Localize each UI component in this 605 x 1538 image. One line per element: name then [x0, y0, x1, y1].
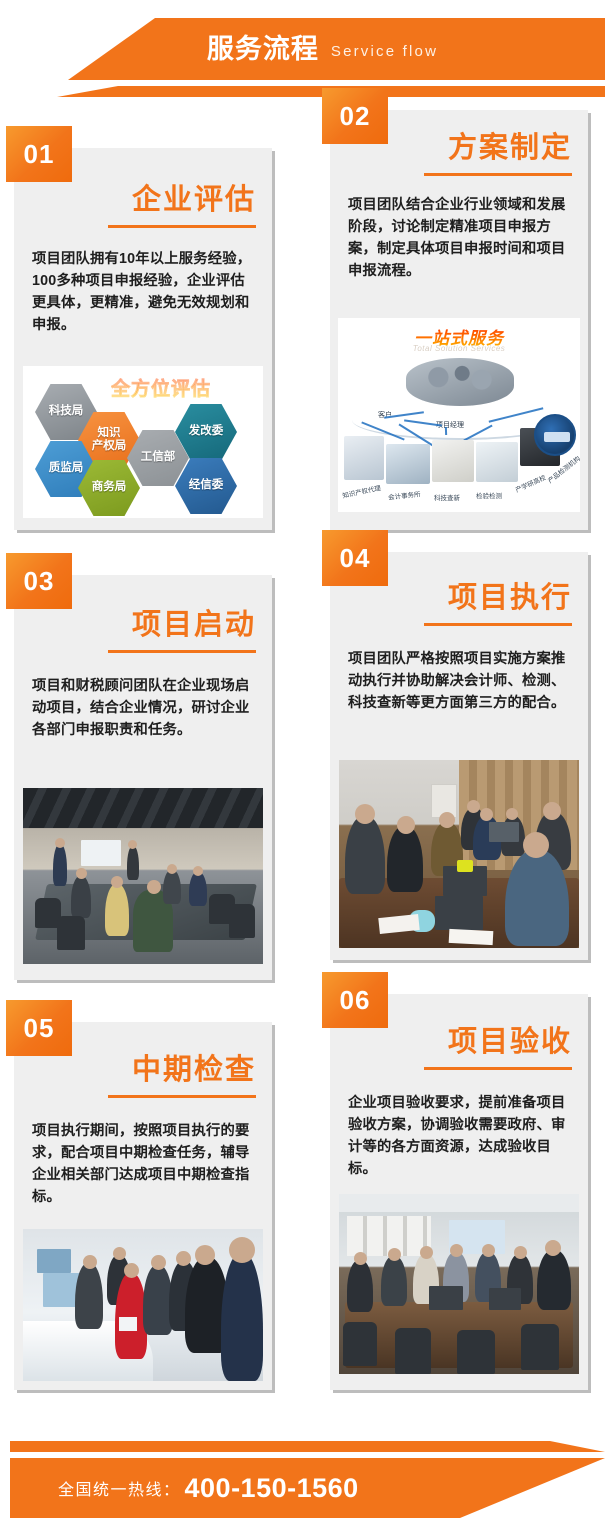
person-head — [193, 866, 203, 876]
card-body-text: 企业项目验收要求，提前准备项目验收方案，协调验收需要政府、审计等的各方面资源，达… — [348, 1092, 572, 1181]
person-head — [83, 1255, 97, 1269]
chair — [395, 1328, 431, 1374]
card-number-badge: 03 — [6, 553, 72, 609]
service-flow-poster: 服务流程 Service flow 01 企业评估 项目团队拥有10年以上服务经… — [0, 0, 605, 1538]
footer-accent-stripe — [10, 1441, 605, 1452]
person — [537, 1250, 571, 1310]
card-number-badge: 06 — [322, 972, 388, 1028]
photo-team-working-laptops — [339, 760, 579, 948]
person — [221, 1253, 263, 1381]
photo-boardroom-acceptance — [339, 1194, 579, 1374]
card-body-text: 项目团队严格按照项目实施方案推动执行并协助解决会计师、检测、科技查新等更方面第三… — [348, 648, 574, 714]
photo-scene — [339, 1194, 579, 1374]
photo-conference-room-meeting — [23, 788, 263, 964]
card-body-text: 项目执行期间，按照项目执行的要求，配合项目中期检查任务，辅导企业相关部门达成项目… — [32, 1120, 256, 1209]
display-screen — [37, 1249, 71, 1273]
hotline-number[interactable]: 400-150-1560 — [185, 1473, 359, 1504]
card-03[interactable]: 03 项目启动 项目和财税顾问团队在企业现场启动项目，结合企业情况，研讨企业各部… — [14, 575, 272, 980]
title-underline — [108, 1095, 256, 1098]
chair — [57, 916, 85, 950]
footer-content: 全国统一热线： 400-150-1560 — [10, 1458, 605, 1518]
person-head — [506, 808, 518, 820]
title-underline — [108, 650, 256, 653]
person-head — [482, 1244, 495, 1257]
person-head — [55, 838, 65, 848]
photo-scene — [23, 1229, 263, 1381]
chair — [521, 1324, 559, 1370]
person-head — [397, 816, 415, 834]
person — [53, 844, 67, 886]
title-underline — [424, 173, 572, 176]
person-head — [450, 1244, 463, 1257]
person-head — [195, 1245, 215, 1265]
card-title: 企业评估 — [14, 176, 272, 218]
person-head — [76, 868, 87, 879]
one-stop-photo-3 — [476, 442, 518, 482]
cards-grid: 01 企业评估 项目团队拥有10年以上服务经验，100多种项目申报经验，企业评估… — [0, 0, 605, 1538]
chair — [457, 1330, 495, 1374]
person-head — [355, 804, 375, 824]
person — [345, 816, 385, 894]
person-head — [545, 1240, 561, 1256]
page-footer: 全国统一热线： 400-150-1560 — [0, 1408, 605, 1538]
person-head — [147, 880, 161, 894]
card-body-text: 项目团队结合企业行业领域和发展阶段，讨论制定精准项目申报方案，制定具体项目申报时… — [348, 194, 572, 283]
photo-showroom-visit — [23, 1229, 263, 1381]
person — [381, 1256, 407, 1306]
person — [505, 850, 569, 946]
one-stop-photo-2 — [432, 440, 474, 482]
laptop — [435, 896, 483, 930]
person-head — [439, 812, 455, 828]
person-head — [523, 832, 549, 858]
person — [347, 1260, 373, 1312]
person-head — [167, 864, 177, 874]
person — [75, 1263, 103, 1329]
one-stop-photo-0 — [344, 436, 384, 480]
one-stop-center-photo — [406, 358, 514, 406]
one-stop-service-infographic: 一站式服务 Total Solution Services 客户 项目经理 — [338, 318, 580, 512]
one-stop-bottom-label-2: 科技查新 — [434, 492, 460, 502]
chair — [229, 904, 255, 938]
certification-seal-icon — [534, 414, 576, 456]
one-stop-bottom-label-0: 知识产权代理 — [341, 482, 381, 500]
person-head — [514, 1246, 527, 1259]
one-stop-bottom-label-1: 会计事务所 — [388, 488, 421, 501]
person-head — [543, 802, 561, 820]
person — [127, 846, 139, 880]
person-head — [354, 1252, 367, 1265]
card-body-text: 项目和财税顾问团队在企业现场启动项目，结合企业情况，研讨企业各部门申报职责和任务… — [32, 675, 256, 741]
person-head — [113, 1247, 126, 1260]
chair — [343, 1322, 377, 1366]
brochure — [119, 1317, 137, 1331]
person-head — [388, 1248, 401, 1261]
person-head — [176, 1251, 191, 1266]
card-number-badge: 02 — [322, 88, 388, 144]
one-stop-bottom-label-3: 检验检测 — [476, 490, 502, 500]
card-02[interactable]: 02 方案制定 项目团队结合企业行业领域和发展阶段，讨论制定精准项目申报方案，制… — [330, 110, 588, 530]
person — [163, 870, 181, 904]
person-head — [151, 1255, 166, 1270]
one-stop-photo-1 — [386, 444, 430, 484]
photo-scene — [339, 760, 579, 948]
person — [71, 876, 91, 918]
laptop — [489, 1288, 521, 1310]
one-stop-arrow — [445, 427, 447, 435]
sticky-note — [457, 860, 473, 872]
photo-scene — [23, 788, 263, 964]
card-number-badge: 01 — [6, 126, 72, 182]
hotline-label: 全国统一热线： — [58, 1476, 181, 1500]
one-stop-bottom-label-4: 产学研高校 — [513, 472, 547, 494]
hexagon-title: 全方位评估 — [111, 374, 211, 401]
person — [105, 884, 129, 936]
title-underline — [108, 225, 256, 228]
person-head — [229, 1237, 255, 1263]
person-head — [480, 808, 493, 821]
person-head — [111, 876, 123, 888]
whiteboard — [81, 840, 121, 866]
card-number-badge: 05 — [6, 1000, 72, 1056]
laptop — [429, 1286, 463, 1310]
one-stop-subtitle: Total Solution Services — [338, 344, 580, 353]
card-06[interactable]: 06 项目验收 企业项目验收要求，提前准备项目验收方案，协调验收需要政府、审计等… — [330, 994, 588, 1390]
paper — [449, 929, 494, 945]
ceiling — [23, 788, 263, 828]
card-04[interactable]: 04 项目执行 项目团队严格按照项目实施方案推动执行并协助解决会计师、检测、科技… — [330, 552, 588, 960]
person-head — [124, 1263, 139, 1278]
person-head — [467, 800, 480, 813]
card-number-badge: 04 — [322, 530, 388, 586]
person — [189, 872, 207, 906]
card-01[interactable]: 01 企业评估 项目团队拥有10年以上服务经验，100多种项目申报经验，企业评估… — [14, 148, 272, 530]
card-body-text: 项目团队拥有10年以上服务经验，100多种项目申报经验，企业评估更具体，更精准，… — [32, 248, 256, 337]
person-head — [128, 840, 137, 849]
person — [387, 826, 423, 892]
card-05[interactable]: 05 中期检查 项目执行期间，按照项目执行的要求，配合项目中期检查任务，辅导企业… — [14, 1022, 272, 1390]
laptop — [489, 822, 519, 842]
title-underline — [424, 1067, 572, 1070]
person-head — [420, 1246, 433, 1259]
hexagon-infographic: 全方位评估 科技局 知识产权局 发改委 质监局 工信部 商务局 经信委 — [23, 366, 263, 518]
title-underline — [424, 623, 572, 626]
ceiling — [339, 1194, 579, 1212]
